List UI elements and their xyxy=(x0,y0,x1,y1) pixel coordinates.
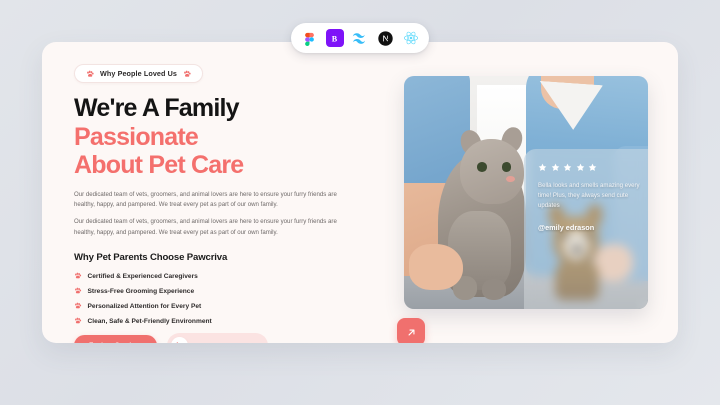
feature-list: Certified & Experienced Caregivers Stres… xyxy=(74,272,366,325)
tailwind-icon[interactable] xyxy=(351,29,369,47)
nextjs-icon[interactable] xyxy=(377,29,395,47)
intro-paragraph-1: Our dedicated team of vets, groomers, an… xyxy=(74,190,352,211)
star-icon xyxy=(551,163,560,172)
hero-card: Why People Loved Us We're A Family Passi… xyxy=(42,42,678,343)
eyebrow-badge-label: Why People Loved Us xyxy=(100,69,177,78)
section-subheading: Why Pet Parents Choose Pawcriva xyxy=(74,252,366,263)
intro-paragraph-2: Our dedicated team of vets, groomers, an… xyxy=(74,217,352,238)
explore-services-button[interactable]: Explore Services xyxy=(74,335,157,343)
list-item: Stress-Free Grooming Experience xyxy=(74,287,366,295)
list-item: Clean, Safe & Pet-Friendly Environment xyxy=(74,317,366,325)
star-icon xyxy=(563,163,572,172)
list-item: Certified & Experienced Caregivers xyxy=(74,272,366,280)
svg-text:B: B xyxy=(332,34,338,43)
cat-nose xyxy=(506,176,515,182)
react-icon[interactable] xyxy=(402,29,420,47)
paw-icon xyxy=(74,272,82,280)
headline-part-accent-2: About Pet Care xyxy=(74,151,243,179)
bootstrap-icon[interactable]: B xyxy=(326,29,344,47)
feature-label: Certified & Experienced Caregivers xyxy=(88,273,198,280)
phone-icon xyxy=(171,337,188,343)
paw-icon xyxy=(74,317,82,325)
eyebrow-badge: Why People Loved Us xyxy=(74,64,203,83)
figma-icon[interactable] xyxy=(300,29,318,47)
star-icon xyxy=(576,163,585,172)
testimonial-card: Bella looks and smells amazing every tim… xyxy=(524,149,648,309)
testimonial-handle: @emily edrason xyxy=(538,223,636,232)
headline-part-dark: We're A Family xyxy=(74,94,239,122)
list-item: Personalized Attention for Every Pet xyxy=(74,302,366,310)
paw-icon xyxy=(74,302,82,310)
cat-paw-right xyxy=(482,279,506,300)
star-icon xyxy=(588,163,597,172)
feature-label: Clean, Safe & Pet-Friendly Environment xyxy=(88,318,212,325)
rating-stars xyxy=(538,163,636,172)
cat-eye-right xyxy=(502,162,512,171)
vet-left-hand xyxy=(409,244,463,291)
feature-label: Stress-Free Grooming Experience xyxy=(88,288,195,295)
framework-toolbar[interactable]: B xyxy=(291,23,429,53)
paw-icon xyxy=(183,70,191,78)
cat-eye-left xyxy=(477,162,487,171)
testimonial-quote: Bella looks and smells amazing every tim… xyxy=(538,181,643,212)
paw-icon xyxy=(74,287,82,295)
feature-label: Personalized Attention for Every Pet xyxy=(88,303,202,310)
phone-number-label: +1 2603 555-0123 xyxy=(194,341,256,343)
cta-row: Explore Services +1 2603 555-0123 xyxy=(74,333,366,343)
star-icon xyxy=(538,163,547,172)
page-title: We're A Family Passionate About Pet Care xyxy=(74,94,366,180)
phone-chip[interactable]: +1 2603 555-0123 xyxy=(167,333,268,343)
hero-left-column: Why People Loved Us We're A Family Passi… xyxy=(74,64,366,343)
cat-head xyxy=(460,139,523,204)
arrow-up-right-icon xyxy=(405,326,418,339)
arrow-up-right-icon-button[interactable] xyxy=(397,318,425,343)
hero-photo: Bella looks and smells amazing every tim… xyxy=(404,76,648,309)
headline-part-accent-1: Passionate xyxy=(74,123,198,151)
paw-icon xyxy=(86,70,94,78)
